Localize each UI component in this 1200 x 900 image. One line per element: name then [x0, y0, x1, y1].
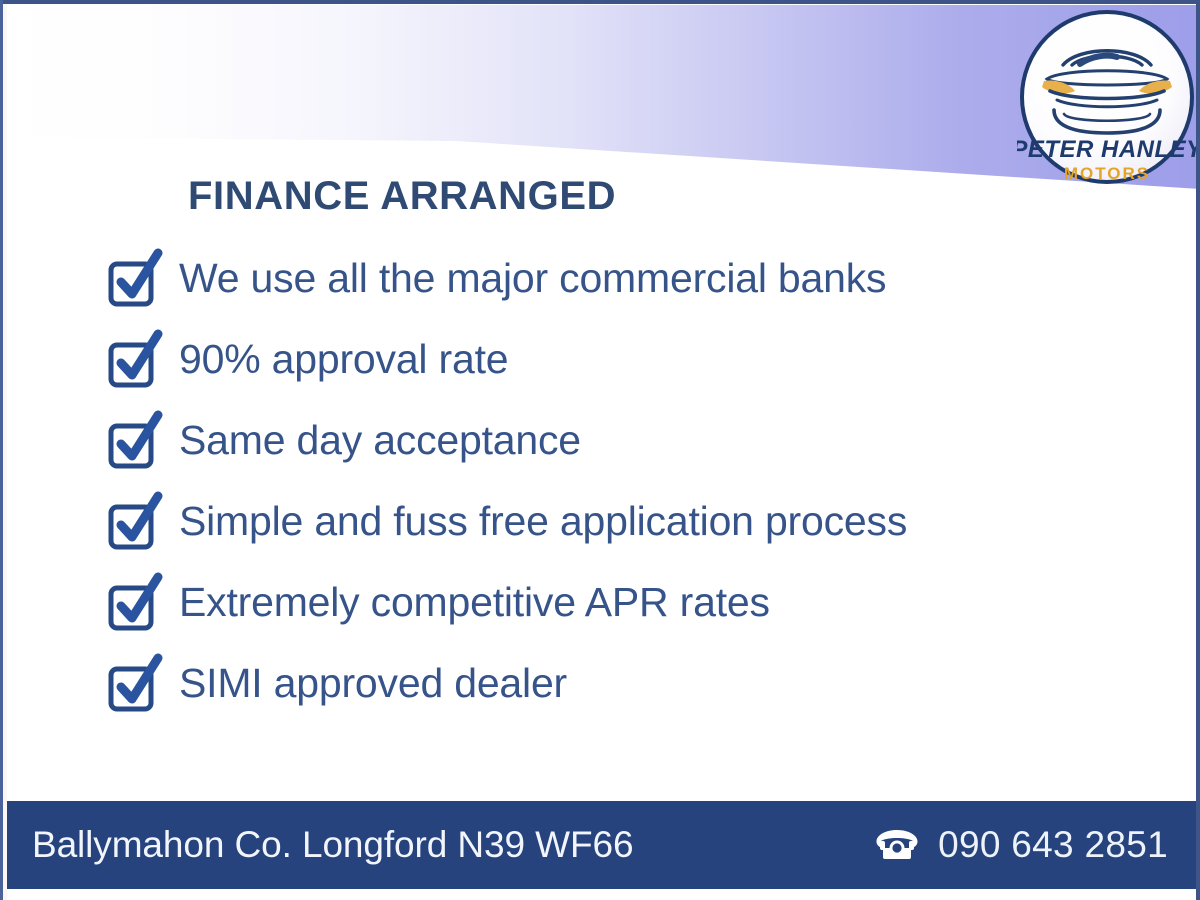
list-item: We use all the major commercial banks [105, 238, 1155, 319]
advertisement-banner: PETER HANLEY MOTORS FINANCE ARRANGED We … [0, 0, 1200, 900]
list-item: Same day acceptance [105, 400, 1155, 481]
list-item: Extremely competitive APR rates [105, 562, 1155, 643]
checkbox-checked-icon [105, 653, 167, 715]
list-item-label: Extremely competitive APR rates [179, 581, 770, 624]
checkbox-checked-icon [105, 572, 167, 634]
list-item: 90% approval rate [105, 319, 1155, 400]
footer-contact-bar: Ballymahon Co. Longford N39 WF66 090 643… [4, 801, 1196, 889]
frame-inner-left-edge [3, 4, 7, 900]
frame-left-border [0, 0, 3, 900]
feature-list: We use all the major commercial banks 90… [105, 238, 1155, 724]
telephone-icon [874, 828, 920, 862]
list-item-label: 90% approval rate [179, 338, 508, 381]
footer-phone-number: 090 643 2851 [938, 824, 1168, 866]
page-title: FINANCE ARRANGED [188, 174, 616, 219]
list-item: SIMI approved dealer [105, 643, 1155, 724]
checkbox-checked-icon [105, 491, 167, 553]
list-item-label: We use all the major commercial banks [179, 257, 886, 300]
list-item: Simple and fuss free application process [105, 481, 1155, 562]
footer-phone-group[interactable]: 090 643 2851 [874, 824, 1168, 866]
list-item-label: Same day acceptance [179, 419, 581, 462]
checkbox-checked-icon [105, 410, 167, 472]
list-item-label: SIMI approved dealer [179, 662, 567, 705]
footer-under-strip [4, 889, 1196, 900]
dealer-logo[interactable]: PETER HANLEY MOTORS [1017, 7, 1197, 187]
logo-sub-text: MOTORS [1064, 164, 1150, 183]
footer-address: Ballymahon Co. Longford N39 WF66 [32, 824, 633, 866]
list-item-label: Simple and fuss free application process [179, 500, 907, 543]
frame-top-border [0, 0, 1200, 4]
logo-brand-text: PETER HANLEY [1017, 136, 1197, 163]
frame-right-border [1196, 0, 1200, 900]
checkbox-checked-icon [105, 248, 167, 310]
checkbox-checked-icon [105, 329, 167, 391]
